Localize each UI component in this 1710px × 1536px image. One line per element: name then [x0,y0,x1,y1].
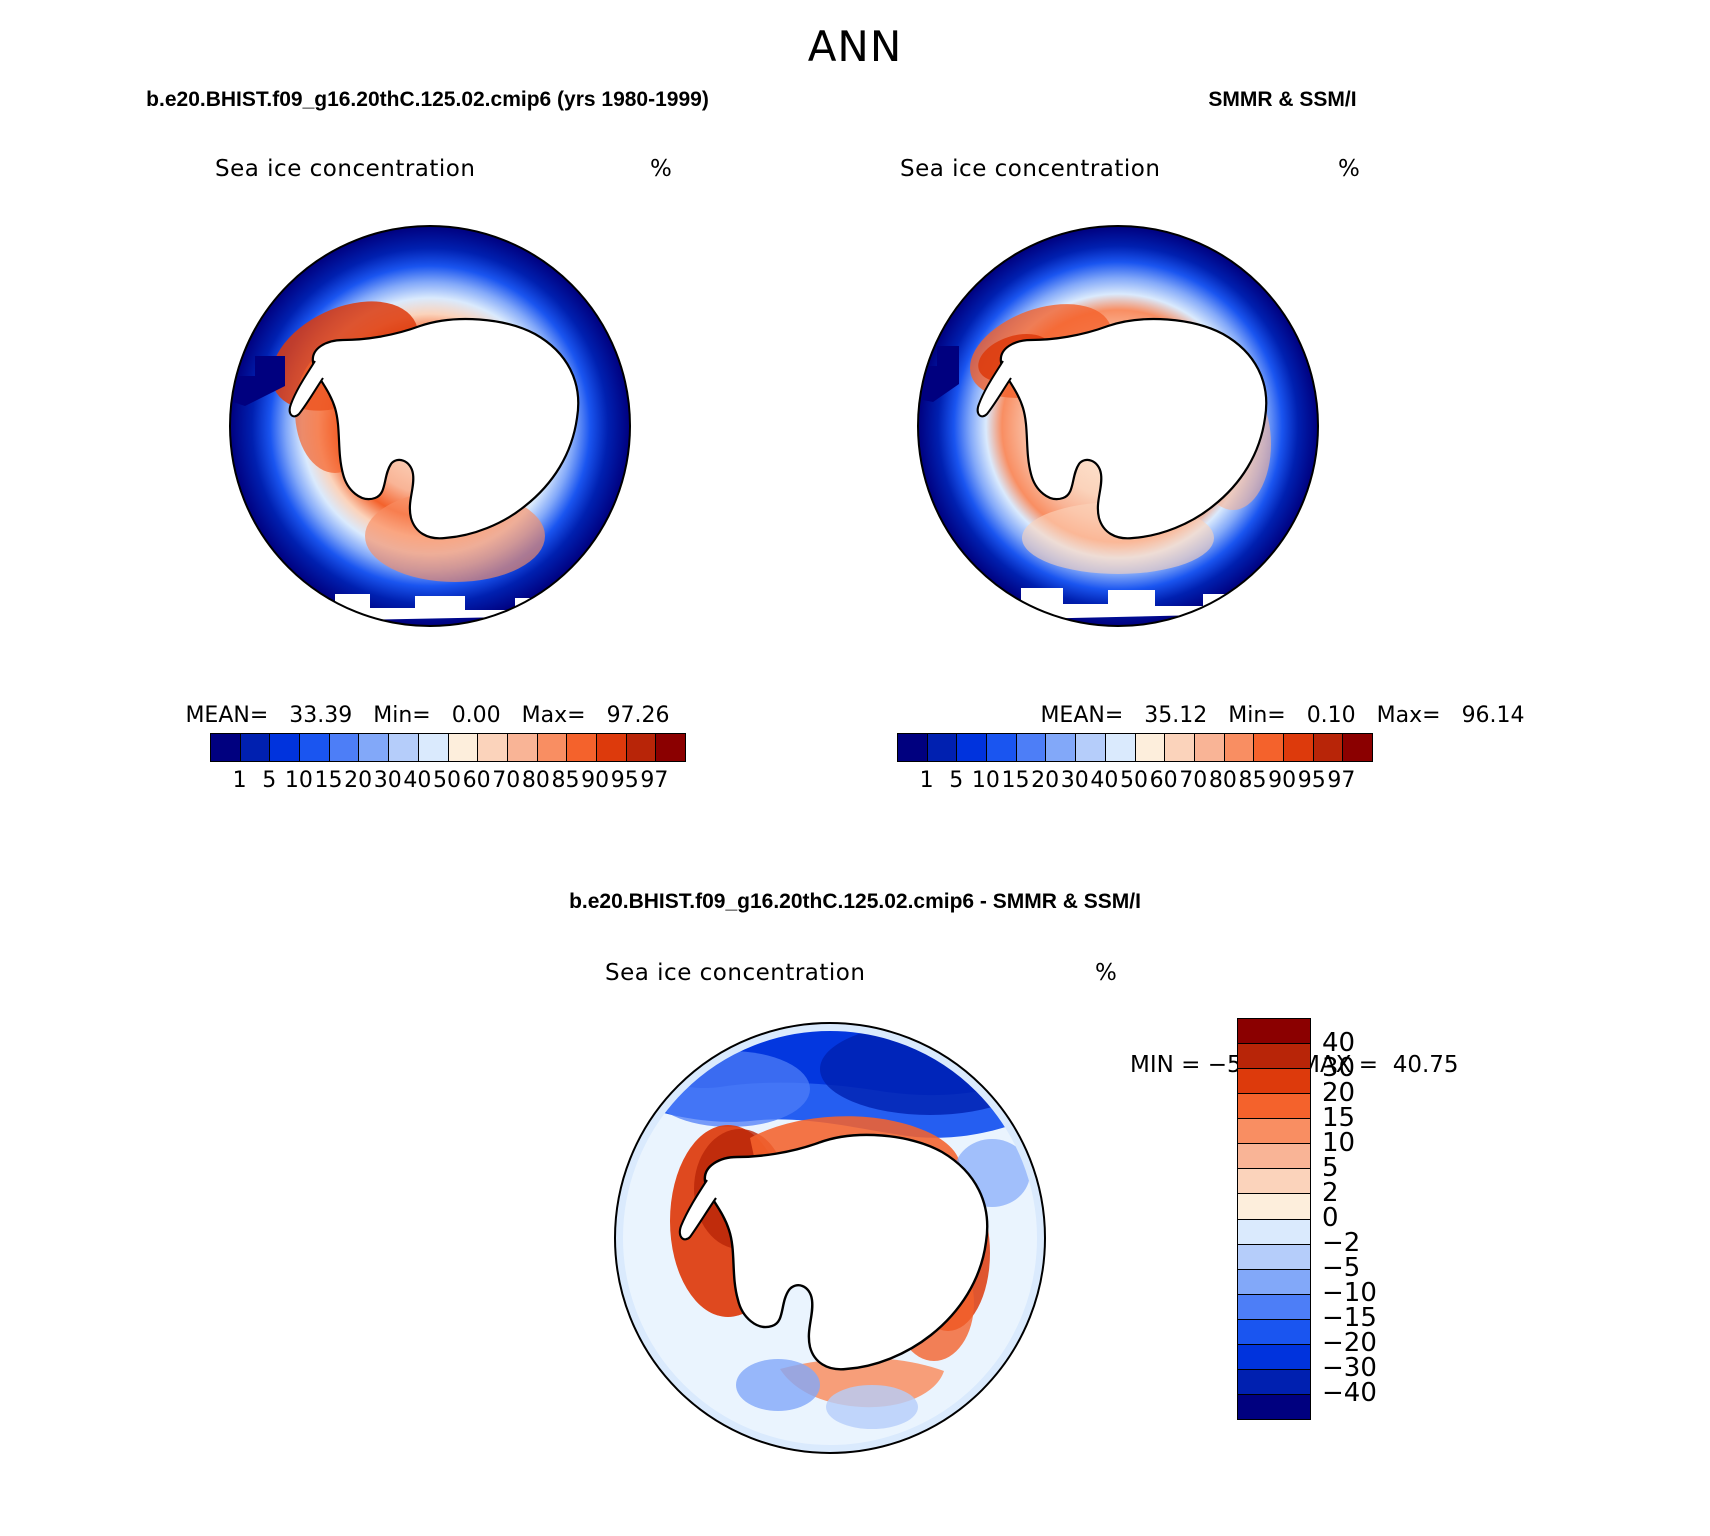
colorbar-model-tick-label: 40 [403,768,431,793]
colorbar-obs-swatch [1225,734,1255,761]
map-obs-svg [903,206,1333,646]
map-difference [600,1003,1060,1473]
obs-min-label: Min= [1228,703,1285,728]
model-mean-value: 33.39 [289,703,352,728]
colorbar-model-swatch [538,734,568,761]
colorbar-model-tick-label: 60 [463,768,491,793]
colorbar-obs-tick-label: 80 [1209,768,1237,793]
map-difference-svg [600,1003,1060,1473]
panel-obs-stats: MEAN= 35.12 Min= 0.10 Max= 96.14 [855,703,1710,728]
panel-model-title: b.e20.BHIST.f09_g16.20thC.125.02.cmip6 (… [0,88,855,112]
colorbar-model-swatch [211,734,241,761]
colorbar-model-tick-label: 50 [433,768,461,793]
model-max-value: 97.26 [607,703,670,728]
colorbar-model-swatch [597,734,627,761]
colorbar-obs-tick-label: 1 [920,768,934,793]
obs-max-value: 96.14 [1462,703,1525,728]
colorbar-obs-tick-label: 10 [972,768,1000,793]
colorbar-model-swatch [567,734,597,761]
colorbar-obs-swatch [1046,734,1076,761]
colorbar-obs-tick-label: 85 [1239,768,1267,793]
colorbar-difference-swatch [1238,1370,1310,1395]
model-mean-label: MEAN= [185,703,268,728]
colorbar-model-swatch [478,734,508,761]
colorbar-obs-tick-label: 95 [1298,768,1326,793]
colorbar-model-tick-label: 10 [285,768,313,793]
colorbar-obs-tick-label: 90 [1268,768,1296,793]
colorbar-difference-swatch [1238,1220,1310,1245]
colorbar-obs-swatch [898,734,928,761]
colorbar-obs-tick-label: 20 [1031,768,1059,793]
colorbar-obs-tick-label: 30 [1061,768,1089,793]
map-model-svg [215,206,645,646]
colorbar-obs-swatch [957,734,987,761]
colorbar-difference-swatch [1238,1295,1310,1320]
map-obs [903,206,1333,646]
colorbar-obs-swatch [928,734,958,761]
colorbar-model-labels: 1510152030405060708085909597 [210,768,684,798]
figure-root: ANN b.e20.BHIST.f09_g16.20thC.125.02.cmi… [0,0,1710,1536]
colorbar-obs-swatch [1136,734,1166,761]
colorbar-model-swatch [419,734,449,761]
colorbar-model-tick-label: 15 [315,768,343,793]
colorbar-obs-swatch [1284,734,1314,761]
colorbar-difference-labels: 4030201510520−2−5−10−15−20−30−40 [1322,1018,1442,1418]
colorbar-model-tick-label: 70 [492,768,520,793]
colorbar-model-swatch [359,734,389,761]
colorbar-model-swatch [508,734,538,761]
panel-difference: b.e20.BHIST.f09_g16.20thC.125.02.cmip6 -… [0,890,1710,1536]
colorbar-obs-swatch [1165,734,1195,761]
colorbar-difference-swatch [1238,1019,1310,1044]
colorbar-obs-swatch [1254,734,1284,761]
colorbar-obs-swatch [1017,734,1047,761]
colorbar-obs-labels: 1510152030405060708085909597 [897,768,1371,798]
panel-obs: SMMR & SSM/I Sea ice concentration % [855,78,1710,808]
model-min-label: Min= [373,703,430,728]
colorbar-difference-swatch [1238,1094,1310,1119]
colorbar-difference-swatch [1238,1320,1310,1345]
colorbar-difference-swatch [1238,1169,1310,1194]
colorbar-model-swatch [656,734,685,761]
map-model [215,206,645,646]
colorbar-difference-swatch [1238,1144,1310,1169]
colorbar-obs-tick-label: 50 [1120,768,1148,793]
colorbar-difference-swatch [1238,1395,1310,1419]
panel-model-stats: MEAN= 33.39 Min= 0.00 Max= 97.26 [0,703,855,728]
colorbar-obs-tick-label: 97 [1327,768,1355,793]
colorbar-model-swatch [300,734,330,761]
colorbar-model-swatch [449,734,479,761]
colorbar-obs-tick-label: 15 [1002,768,1030,793]
panel-difference-units-label: % [1095,960,1117,986]
colorbar-obs-tick-label: 70 [1179,768,1207,793]
colorbar-obs-swatch [1314,734,1344,761]
panel-obs-title: SMMR & SSM/I [855,88,1710,112]
colorbar-difference-swatch [1238,1194,1310,1219]
colorbar-model-tick-label: 85 [552,768,580,793]
panel-obs-variable-label: Sea ice concentration [900,156,1160,182]
colorbar-model-swatch [330,734,360,761]
colorbar-model-swatch [270,734,300,761]
colorbar-difference-swatch [1238,1044,1310,1069]
colorbar-obs-tick-label: 60 [1150,768,1178,793]
obs-mean-value: 35.12 [1144,703,1207,728]
colorbar-model-tick-label: 1 [233,768,247,793]
colorbar-model-swatch [389,734,419,761]
colorbar-obs-swatch [1195,734,1225,761]
obs-mean-label: MEAN= [1040,703,1123,728]
colorbar-difference-swatch [1238,1345,1310,1370]
model-max-label: Max= [522,703,586,728]
colorbar-model-swatch [627,734,657,761]
obs-min-value: 0.10 [1307,703,1356,728]
colorbar-difference-swatch [1238,1069,1310,1094]
colorbar-model-swatch [241,734,271,761]
colorbar-obs-swatch [1076,734,1106,761]
colorbar-model-tick-label: 5 [262,768,276,793]
figure-super-title: ANN [0,22,1710,71]
colorbar-difference-swatch [1238,1119,1310,1144]
colorbar-obs-swatch [1106,734,1136,761]
colorbar-obs-swatch [987,734,1017,761]
model-min-value: 0.00 [452,703,501,728]
obs-max-label: Max= [1377,703,1441,728]
colorbar-model-tick-label: 95 [611,768,639,793]
colorbar-model-tick-label: 30 [374,768,402,793]
panel-model-variable-label: Sea ice concentration [215,156,475,182]
colorbar-model-tick-label: 20 [344,768,372,793]
colorbar-obs-tick-label: 40 [1090,768,1118,793]
colorbar-model-tick-label: 80 [522,768,550,793]
colorbar-obs [897,733,1373,762]
colorbar-model-tick-label: 90 [581,768,609,793]
colorbar-model-tick-label: 97 [640,768,668,793]
panel-model-units-label: % [650,156,672,182]
colorbar-difference-swatch [1238,1270,1310,1295]
colorbar-model [210,733,686,762]
panel-difference-title: b.e20.BHIST.f09_g16.20thC.125.02.cmip6 -… [0,890,1710,914]
colorbar-obs-swatch [1343,734,1372,761]
colorbar-difference-tick-label: −40 [1322,1378,1377,1408]
colorbar-difference-swatch [1238,1245,1310,1270]
colorbar-difference [1237,1018,1311,1420]
panel-model: b.e20.BHIST.f09_g16.20thC.125.02.cmip6 (… [0,78,855,808]
panel-obs-units-label: % [1338,156,1360,182]
panel-difference-variable-label: Sea ice concentration [605,960,865,986]
colorbar-obs-tick-label: 5 [949,768,963,793]
